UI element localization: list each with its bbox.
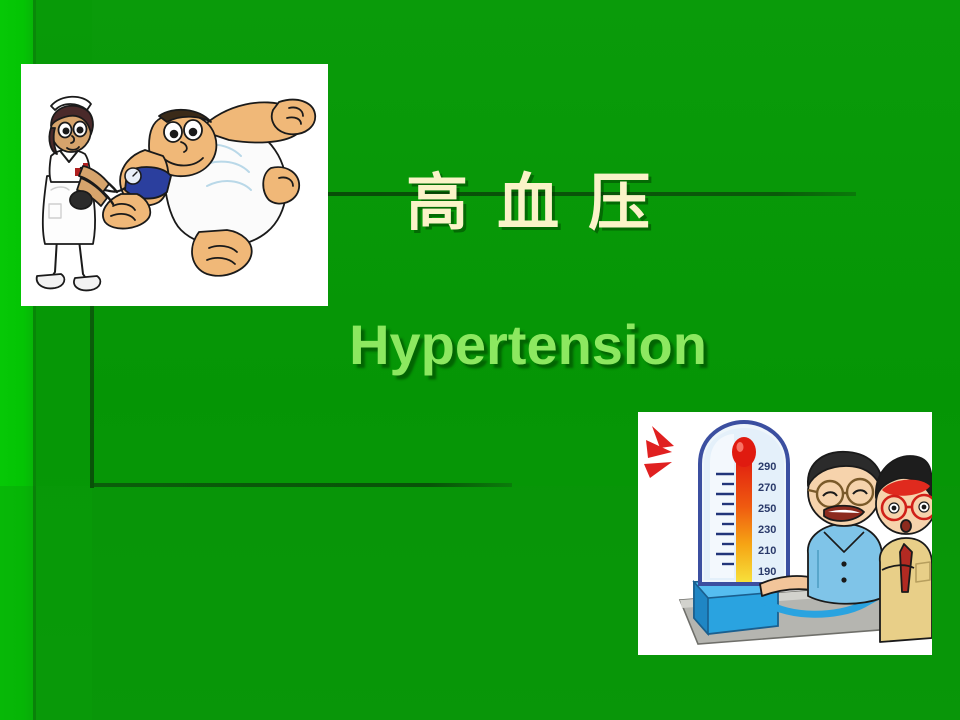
- gauge-label-250: 250: [758, 503, 776, 515]
- gauge-label-290: 290: [758, 461, 776, 473]
- nurse-clipart-svg: [21, 64, 328, 306]
- page-title-english: Hypertension: [348, 316, 708, 375]
- gauge-label-270: 270: [758, 482, 776, 494]
- gauge-label-190: 190: [758, 566, 776, 578]
- left-band-divider-line: [33, 486, 36, 720]
- gauge-label-210: 210: [758, 545, 776, 557]
- nurse-clipart-image: [21, 64, 328, 306]
- page-title-chinese: 高 血 压: [330, 172, 730, 234]
- gauge-clipart-svg: 290 270 250 230 210 190: [638, 412, 932, 655]
- lower-divider-line: [92, 483, 512, 487]
- gauge-label-230: 230: [758, 524, 776, 536]
- vertical-divider-line: [90, 306, 94, 488]
- gauge-clipart-image: 290 270 250 230 210 190: [638, 412, 932, 655]
- slide-canvas: 290 270 250 230 210 190: [0, 0, 960, 720]
